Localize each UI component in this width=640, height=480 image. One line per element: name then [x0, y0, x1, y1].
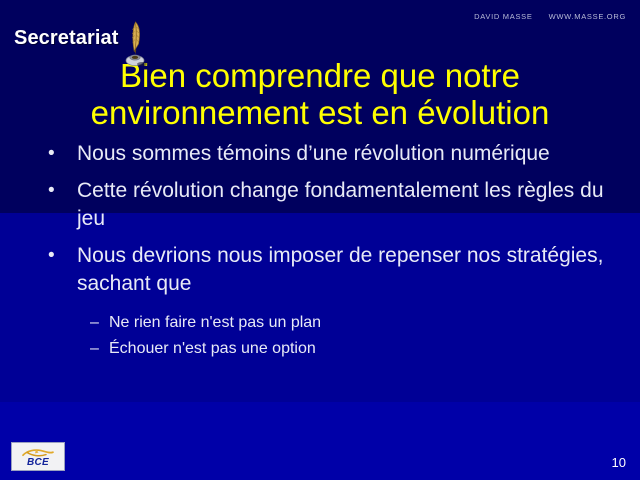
attribution-author: DAVID MASSE [474, 12, 532, 21]
bullet-item: • Nous devrions nous imposer de repenser… [48, 242, 608, 298]
bullet-item: • Nous sommes témoins d’une révolution n… [48, 140, 608, 168]
attribution: DAVID MASSEWWW.MASSE.ORG [474, 12, 626, 21]
secretariat-logo: Secretariat [14, 20, 150, 49]
sub-bullet-item: – Échouer n'est pas une option [90, 336, 608, 362]
slide-title-line-1: Bien comprendre que notre [18, 57, 622, 94]
sub-bullet-item: – Ne rien faire n'est pas un plan [90, 310, 608, 336]
bullet-marker: • [48, 140, 77, 168]
background-band-bottom [0, 402, 640, 480]
slide-body: • Nous sommes témoins d’une révolution n… [48, 140, 608, 362]
sub-bullet-marker: – [90, 310, 109, 336]
presentation-slide: Secretariat DAVID MASSEWWW.MASSE.ORG Bie [0, 0, 640, 480]
sub-bullet-list: – Ne rien faire n'est pas un plan – Écho… [90, 310, 608, 362]
bce-swoosh-icon [21, 446, 55, 457]
bullet-text: Cette révolution change fondamentalement… [77, 177, 608, 233]
bullet-marker: • [48, 242, 77, 270]
slide-title: Bien comprendre que notre environnement … [18, 57, 622, 131]
attribution-site: WWW.MASSE.ORG [549, 12, 626, 21]
sub-bullet-marker: – [90, 336, 109, 362]
quill-pen-icon [120, 20, 150, 66]
bullet-marker: • [48, 177, 77, 205]
bullet-text: Nous sommes témoins d’une révolution num… [77, 140, 608, 168]
secretariat-wordmark: Secretariat [14, 27, 119, 49]
slide-title-line-2: environnement est en évolution [18, 94, 622, 131]
page-number: 10 [612, 455, 626, 470]
bullet-text: Nous devrions nous imposer de repenser n… [77, 242, 608, 298]
sub-bullet-text: Ne rien faire n'est pas un plan [109, 310, 321, 336]
sub-bullet-text: Échouer n'est pas une option [109, 336, 316, 362]
bullet-item: • Cette révolution change fondamentaleme… [48, 177, 608, 233]
bce-logo: BCE [11, 442, 65, 471]
bce-wordmark: BCE [27, 457, 49, 468]
